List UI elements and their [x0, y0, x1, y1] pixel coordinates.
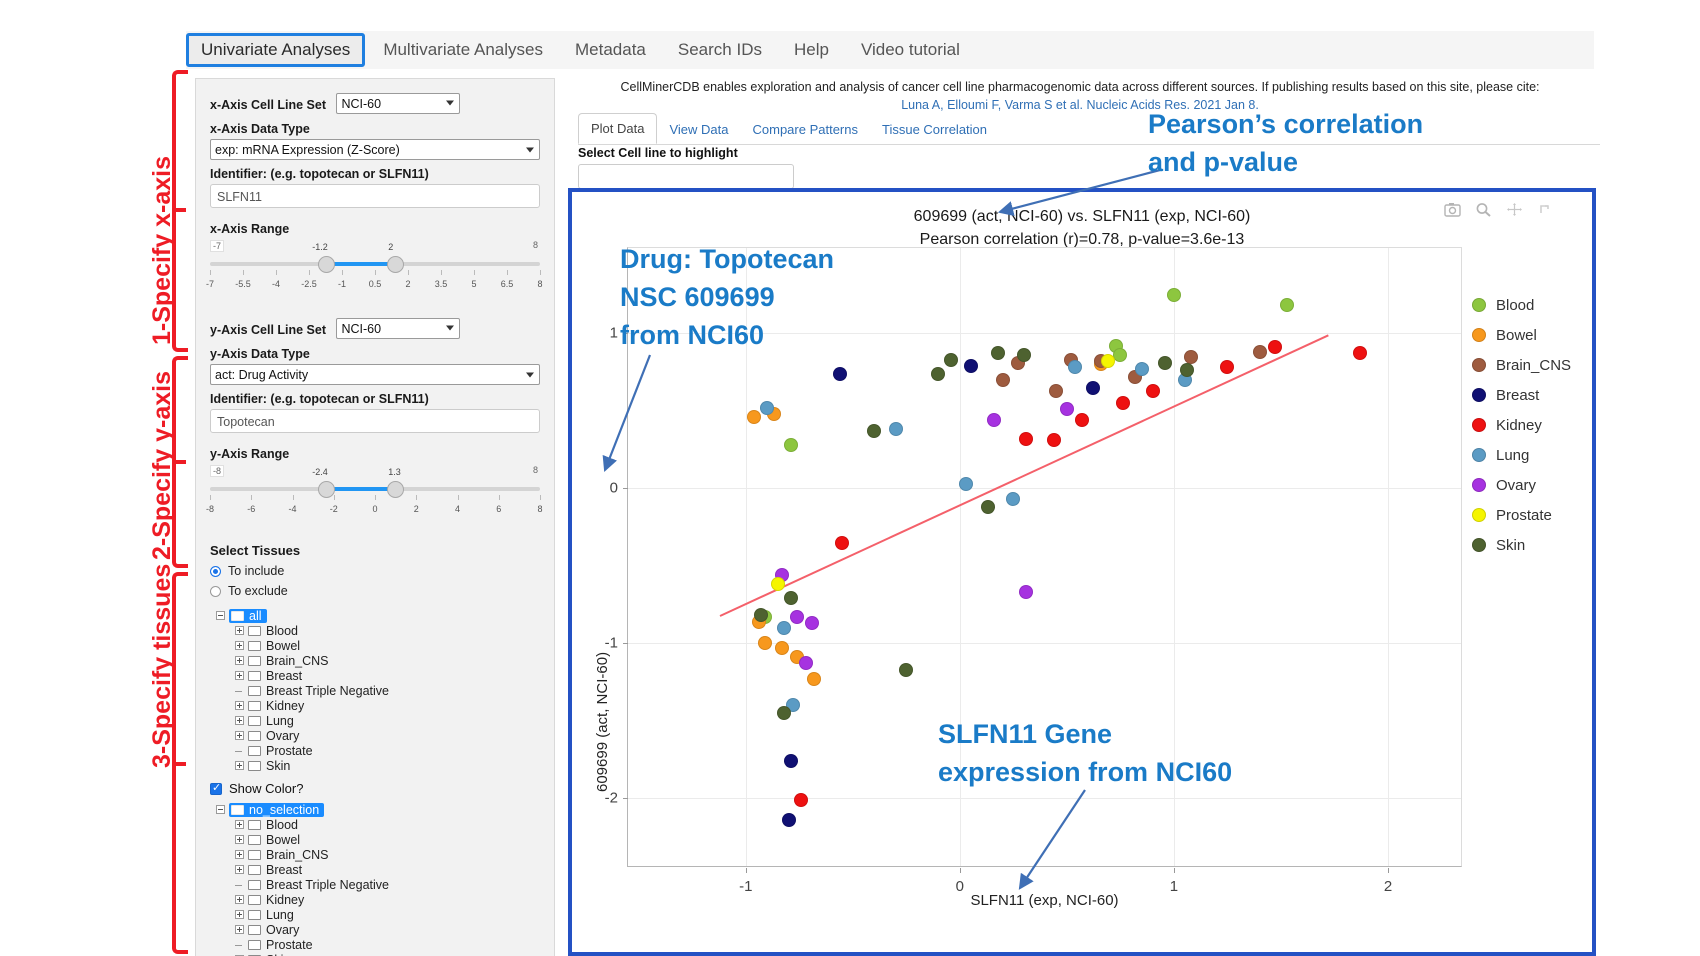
y-identifier-input[interactable]: Topotecan: [210, 409, 540, 433]
folder-icon: [248, 910, 261, 920]
scatter-point[interactable]: [747, 410, 761, 424]
scatter-point[interactable]: [981, 500, 995, 514]
legend-item-bowel[interactable]: Bowel: [1472, 320, 1571, 350]
scatter-point[interactable]: [1167, 288, 1181, 302]
slider-tick-mark: [293, 495, 294, 500]
x-datatype-select[interactable]: exp: mRNA Expression (Z-Score): [210, 139, 540, 160]
tree-item-bowel[interactable]: Bowel: [216, 832, 540, 847]
folder-icon: [248, 731, 261, 741]
x-datatype-label: x-Axis Data Type: [210, 122, 540, 136]
tree-item-kidney[interactable]: Kidney: [216, 698, 540, 713]
x-cellline-label: x-Axis Cell Line Set: [210, 98, 326, 112]
tree-item-label: Kidney: [266, 893, 304, 907]
y-range-low-value: -2.4: [312, 467, 328, 477]
slider-tick-label: -4: [288, 504, 296, 514]
plot-title: 609699 (act, NCI-60) vs. SLFN11 (exp, NC…: [572, 208, 1592, 226]
camera-icon[interactable]: [1444, 202, 1461, 217]
y-datatype-label: y-Axis Data Type: [210, 347, 540, 361]
slider-tick-label: 2: [405, 279, 410, 289]
scatter-point[interactable]: [1253, 345, 1267, 359]
drug-annotation-line-3: from NCI60: [620, 316, 834, 354]
legend-item-lung[interactable]: Lung: [1472, 440, 1571, 470]
slider-tick-mark: [251, 495, 252, 500]
expand-icon[interactable]: [235, 716, 244, 725]
cite-text: CellMinerCDB enables exploration and ana…: [560, 80, 1600, 94]
pearson-annotation-line-1: Pearson’s correlation: [1148, 105, 1423, 143]
chevron-down-icon: [446, 326, 454, 331]
tree-root-row[interactable]: all: [216, 608, 540, 623]
scatter-point[interactable]: [1220, 360, 1234, 374]
slider-tick-mark: [507, 270, 508, 275]
legend-item-prostate[interactable]: Prostate: [1472, 500, 1571, 530]
subtab-divider: [578, 144, 1600, 145]
scatter-point[interactable]: [1068, 360, 1082, 374]
tree-item-label: Lung: [266, 714, 294, 728]
show-color-checkbox[interactable]: Show Color?: [210, 781, 540, 796]
nav-tab-search-ids[interactable]: Search IDs: [664, 34, 776, 66]
select-tissues-label: Select Tissues: [210, 543, 540, 558]
legend-label: Breast: [1496, 387, 1539, 404]
legend-label: Skin: [1496, 537, 1525, 554]
scatter-point[interactable]: [944, 353, 958, 367]
chevron-down-icon: [526, 372, 534, 377]
folder-icon: [248, 701, 261, 711]
scatter-point[interactable]: [1180, 363, 1194, 377]
legend-color-swatch: [1472, 358, 1486, 372]
scatter-point[interactable]: [1280, 298, 1294, 312]
tree-item-prostate[interactable]: Prostate: [216, 743, 540, 758]
slider-tick-label: -2: [330, 504, 338, 514]
scatter-point[interactable]: [1047, 433, 1061, 447]
scatter-point[interactable]: [1146, 384, 1160, 398]
folder-icon: [248, 626, 261, 636]
slider-tick-label: 5: [471, 279, 476, 289]
expand-icon[interactable]: [235, 641, 244, 650]
y-tick-mark: [623, 643, 628, 644]
tree-item-breast-triple-negative[interactable]: Breast Triple Negative: [216, 877, 540, 892]
pan-icon[interactable]: [1506, 202, 1523, 217]
slider-tick-label: 8: [537, 279, 542, 289]
legend-label: Blood: [1496, 297, 1534, 314]
drug-annotation-line-2: NSC 609699: [620, 278, 834, 316]
x-tick-mark: [1174, 868, 1175, 873]
scatter-point[interactable]: [1075, 413, 1089, 427]
tree-root-row[interactable]: no_selection: [216, 802, 540, 817]
show-color-label: Show Color?: [229, 781, 303, 796]
tree-item-label: Prostate: [266, 744, 313, 758]
slider-tick-label: -7: [206, 279, 214, 289]
legend-item-kidney[interactable]: Kidney: [1472, 410, 1571, 440]
x-axis-title: SLFN11 (exp, NCI-60): [627, 892, 1462, 909]
scatter-point[interactable]: [867, 424, 881, 438]
drug-annotation-line-1: Drug: Topotecan: [620, 240, 834, 278]
expand-icon[interactable]: [235, 850, 244, 859]
expand-icon[interactable]: [235, 626, 244, 635]
slider-tick-label: -6: [247, 504, 255, 514]
folder-icon: [248, 746, 261, 756]
tree-item-blood[interactable]: Blood: [216, 817, 540, 832]
folder-icon: [248, 671, 261, 681]
slider-tick-mark: [334, 495, 335, 500]
y-datatype-value: act: Drug Activity: [215, 368, 308, 382]
expand-icon[interactable]: [235, 731, 244, 740]
expand-icon[interactable]: [235, 656, 244, 665]
x-identifier-label: Identifier: (e.g. topotecan or SLFN11): [210, 167, 540, 181]
expand-icon[interactable]: [235, 835, 244, 844]
x-range-high-value: 2: [388, 242, 393, 252]
slider-tick-label: 0: [372, 504, 377, 514]
scatter-point[interactable]: [1158, 356, 1172, 370]
zoom-icon[interactable]: [1475, 202, 1492, 217]
subtab-compare-patterns[interactable]: Compare Patterns: [741, 115, 871, 144]
scatter-point[interactable]: [782, 813, 796, 827]
scatter-point[interactable]: [835, 536, 849, 550]
legend-color-swatch: [1472, 508, 1486, 522]
y-range-label: y-Axis Range: [210, 447, 540, 461]
scatter-point[interactable]: [754, 608, 768, 622]
folder-icon: [248, 835, 261, 845]
nav-tab-multivariate-analyses[interactable]: Multivariate Analyses: [369, 34, 557, 66]
subtab-tissue-correlation[interactable]: Tissue Correlation: [870, 115, 999, 144]
radio-to-exclude[interactable]: To exclude: [210, 584, 540, 598]
legend-color-swatch: [1472, 538, 1486, 552]
y-range-slider[interactable]: -8 8 -2.4 1.3 -8-6-4-202468: [210, 465, 540, 519]
collapse-icon[interactable]: [216, 611, 225, 620]
scatter-point[interactable]: [959, 477, 973, 491]
tree-item-label: Blood: [266, 624, 298, 638]
scatter-point[interactable]: [777, 621, 791, 635]
x-cellline-select[interactable]: NCI-60: [336, 93, 460, 114]
radio-to-include[interactable]: To include: [210, 564, 540, 578]
drug-annotation: Drug: Topotecan NSC 609699 from NCI60: [620, 240, 834, 354]
scatter-point[interactable]: [833, 367, 847, 381]
x-range-label: x-Axis Range: [210, 222, 540, 236]
y-tick-mark: [623, 488, 628, 489]
folder-icon: [248, 880, 261, 890]
legend-item-blood[interactable]: Blood: [1472, 290, 1571, 320]
radio-exclude-label: To exclude: [228, 584, 288, 598]
chevron-down-icon: [526, 147, 534, 152]
nav-tab-metadata[interactable]: Metadata: [561, 34, 660, 66]
legend-color-swatch: [1472, 478, 1486, 492]
legend-color-swatch: [1472, 298, 1486, 312]
tissue-tree-noselection[interactable]: no_selectionBloodBowelBrain_CNSBreastBre…: [216, 802, 540, 956]
slider-tick-mark: [458, 495, 459, 500]
tree-item-lung[interactable]: Lung: [216, 907, 540, 922]
y-range-min: -8: [210, 465, 224, 477]
x-tick-mark: [1388, 868, 1389, 873]
scatter-point[interactable]: [777, 706, 791, 720]
folder-icon: [248, 940, 261, 950]
slider-tick-mark: [375, 270, 376, 275]
collapse-icon[interactable]: [216, 805, 225, 814]
scatter-point[interactable]: [1049, 384, 1063, 398]
scatter-point[interactable]: [784, 438, 798, 452]
tree-item-label: Lung: [266, 908, 294, 922]
slider-tick-label: -2.5: [301, 279, 317, 289]
highlight-input[interactable]: [578, 164, 794, 189]
slider-tick-label: -8: [206, 504, 214, 514]
tree-item-brain_cns[interactable]: Brain_CNS: [216, 847, 540, 862]
folder-icon: [248, 865, 261, 875]
tree-item-label: Breast Triple Negative: [266, 684, 389, 698]
scatter-point[interactable]: [899, 663, 913, 677]
slider-tick-mark: [276, 270, 277, 275]
tree-root-chip[interactable]: all: [229, 609, 267, 623]
scatter-point[interactable]: [807, 672, 821, 686]
slider-tick-label: 8: [537, 504, 542, 514]
gene-annotation-line-2: expression from NCI60: [938, 753, 1232, 791]
legend-item-ovary[interactable]: Ovary: [1472, 470, 1571, 500]
y-tick-label: -2: [590, 790, 618, 807]
slider-tick-mark: [499, 495, 500, 500]
autoscale-icon[interactable]: [1537, 202, 1554, 217]
x-tick-mark: [746, 868, 747, 873]
slider-tick-label: 0.5: [369, 279, 382, 289]
x-datatype-value: exp: mRNA Expression (Z-Score): [215, 143, 400, 157]
scatter-point[interactable]: [991, 346, 1005, 360]
scatter-point[interactable]: [1113, 348, 1127, 362]
scatter-point[interactable]: [760, 401, 774, 415]
tree-item-lung[interactable]: Lung: [216, 713, 540, 728]
x-range-slider[interactable]: -7 8 -1.2 2 -7-5.5-4-2.5-10.523.556.58: [210, 240, 540, 294]
legend-label: Ovary: [1496, 477, 1536, 494]
tree-item-bowel[interactable]: Bowel: [216, 638, 540, 653]
scatter-point[interactable]: [758, 636, 772, 650]
y-cellline-value: NCI-60: [341, 322, 381, 336]
legend-item-breast[interactable]: Breast: [1472, 380, 1571, 410]
scatter-point[interactable]: [889, 422, 903, 436]
expand-icon[interactable]: [235, 761, 244, 770]
pearson-annotation-line-2: and p-value: [1148, 143, 1423, 181]
tree-item-label: Skin: [266, 953, 290, 956]
tree-item-skin[interactable]: Skin: [216, 952, 540, 956]
scatter-point[interactable]: [784, 591, 798, 605]
x-slider-fill: [326, 262, 395, 266]
tree-item-ovary[interactable]: Ovary: [216, 922, 540, 937]
tree-item-breast-triple-negative[interactable]: Breast Triple Negative: [216, 683, 540, 698]
slider-tick-label: 2: [414, 504, 419, 514]
cite-link[interactable]: Luna A, Elloumi F, Varma S et al. Nuclei…: [560, 98, 1600, 112]
main-navbar: Univariate AnalysesMultivariate Analyses…: [186, 31, 1594, 69]
chevron-down-icon: [446, 101, 454, 106]
checkbox-icon: [210, 783, 222, 795]
legend-item-brain_cns[interactable]: Brain_CNS: [1472, 350, 1571, 380]
tree-item-label: Brain_CNS: [266, 654, 329, 668]
regression-line: [720, 335, 1329, 617]
subtab-view-data[interactable]: View Data: [657, 115, 740, 144]
scatter-point[interactable]: [1086, 381, 1100, 395]
y-axis-title: 609699 (act, NCI-60): [594, 652, 611, 792]
expand-icon[interactable]: [235, 701, 244, 710]
tree-item-ovary[interactable]: Ovary: [216, 728, 540, 743]
y-cellline-select[interactable]: NCI-60: [336, 318, 460, 339]
expand-icon[interactable]: [235, 865, 244, 874]
gene-annotation-line-1: SLFN11 Gene: [938, 715, 1232, 753]
scatter-point[interactable]: [1101, 354, 1115, 368]
scatter-point[interactable]: [1019, 585, 1033, 599]
scatter-point[interactable]: [805, 616, 819, 630]
slider-tick-label: -5.5: [235, 279, 251, 289]
slider-tick-mark: [342, 270, 343, 275]
folder-icon: [248, 686, 261, 696]
plot-modebar: [1444, 202, 1554, 217]
y-range-max: 8: [531, 465, 540, 475]
tree-item-label: Skin: [266, 759, 290, 773]
step-label-2: 2-Specify y-axis: [148, 371, 177, 560]
y-cellline-label: y-Axis Cell Line Set: [210, 323, 326, 337]
folder-icon: [248, 850, 261, 860]
nav-tab-help[interactable]: Help: [780, 34, 843, 66]
scatter-point[interactable]: [771, 577, 785, 591]
slider-tick-mark: [441, 270, 442, 275]
slider-tick-mark: [540, 270, 541, 275]
scatter-point[interactable]: [987, 413, 1001, 427]
tree-item-brain_cns[interactable]: Brain_CNS: [216, 653, 540, 668]
radio-include-icon: [210, 566, 221, 577]
folder-icon: [248, 656, 261, 666]
tree-item-skin[interactable]: Skin: [216, 758, 540, 773]
folder-icon: [248, 895, 261, 905]
legend-label: Prostate: [1496, 507, 1552, 524]
scatter-point[interactable]: [1184, 350, 1198, 364]
tree-item-label: Prostate: [266, 938, 313, 952]
scatter-point[interactable]: [964, 359, 978, 373]
y-slider-ticks: -8-6-4-202468: [210, 495, 540, 517]
expand-icon[interactable]: [235, 925, 244, 934]
y-identifier-label: Identifier: (e.g. topotecan or SLFN11): [210, 392, 540, 406]
x-range-low-value: -1.2: [312, 242, 328, 252]
tree-item-label: Bowel: [266, 639, 300, 653]
y-gridline: [628, 643, 1461, 644]
x-cellline-row: x-Axis Cell Line Set NCI-60: [210, 91, 540, 115]
legend-color-swatch: [1472, 418, 1486, 432]
x-identifier-input[interactable]: SLFN11: [210, 184, 540, 208]
scatter-point[interactable]: [1135, 362, 1149, 376]
scatter-point[interactable]: [1116, 396, 1130, 410]
radio-exclude-icon: [210, 586, 221, 597]
tree-item-breast[interactable]: Breast: [216, 862, 540, 877]
step-label-3: 3-Specify tissues: [148, 564, 177, 768]
tree-item-label: Ovary: [266, 729, 299, 743]
tissue-tree-include[interactable]: allBloodBowelBrain_CNSBreastBreast Tripl…: [216, 608, 540, 773]
slider-tick-label: -1: [338, 279, 346, 289]
folder-icon: [231, 611, 244, 621]
tree-item-blood[interactable]: Blood: [216, 623, 540, 638]
slider-tick-label: 6: [496, 504, 501, 514]
gene-annotation: SLFN11 Gene expression from NCI60: [938, 715, 1232, 791]
x-gridline: [1388, 248, 1389, 866]
legend-label: Bowel: [1496, 327, 1537, 344]
y-tick-label: 1: [590, 325, 618, 342]
y-tick-mark: [623, 798, 628, 799]
tree-item-label: Brain_CNS: [266, 848, 329, 862]
folder-icon: [248, 761, 261, 771]
y-cellline-row: y-Axis Cell Line Set NCI-60: [210, 316, 540, 340]
slider-tick-mark: [416, 495, 417, 500]
scatter-point[interactable]: [1353, 346, 1367, 360]
scatter-point[interactable]: [931, 367, 945, 381]
tree-item-label: Breast: [266, 669, 302, 683]
legend-label: Lung: [1496, 447, 1529, 464]
x-tick-mark: [960, 868, 961, 873]
scatter-point[interactable]: [794, 793, 808, 807]
slider-tick-mark: [243, 270, 244, 275]
folder-icon: [248, 820, 261, 830]
slider-tick-label: 3.5: [435, 279, 448, 289]
tree-item-label: Breast: [266, 863, 302, 877]
radio-include-label: To include: [228, 564, 284, 578]
x-range-min: -7: [210, 240, 224, 252]
slider-tick-mark: [540, 495, 541, 500]
highlight-label: Select Cell line to highlight: [578, 146, 738, 160]
pearson-annotation: Pearson’s correlation and p-value: [1148, 105, 1423, 181]
expand-icon[interactable]: [235, 910, 244, 919]
y-gridline: [628, 798, 1461, 799]
scatter-point[interactable]: [784, 754, 798, 768]
nav-tab-univariate-analyses[interactable]: Univariate Analyses: [186, 33, 365, 67]
tree-root-chip[interactable]: no_selection: [229, 803, 324, 817]
tree-item-label: Blood: [266, 818, 298, 832]
tree-item-kidney[interactable]: Kidney: [216, 892, 540, 907]
tree-item-label: Bowel: [266, 833, 300, 847]
slider-tick-mark: [375, 495, 376, 500]
expand-icon[interactable]: [235, 671, 244, 680]
expand-icon[interactable]: [235, 895, 244, 904]
scatter-point[interactable]: [1017, 348, 1031, 362]
y-datatype-select[interactable]: act: Drug Activity: [210, 364, 540, 385]
legend-color-swatch: [1472, 388, 1486, 402]
tree-root-label: no_selection: [249, 803, 319, 817]
nav-tab-video-tutorial[interactable]: Video tutorial: [847, 34, 974, 66]
tree-item-label: Ovary: [266, 923, 299, 937]
tree-item-breast[interactable]: Breast: [216, 668, 540, 683]
legend-color-swatch: [1472, 448, 1486, 462]
scatter-point[interactable]: [1019, 432, 1033, 446]
subtab-plot-data[interactable]: Plot Data: [578, 113, 657, 144]
scatter-point[interactable]: [1268, 340, 1282, 354]
plot-subtabs: Plot DataView DataCompare PatternsTissue…: [578, 113, 999, 144]
scatter-point[interactable]: [1060, 402, 1074, 416]
slider-tick-mark: [474, 270, 475, 275]
x-cellline-value: NCI-60: [341, 97, 381, 111]
scatter-point[interactable]: [775, 641, 789, 655]
tree-root-label: all: [249, 609, 262, 623]
y-tick-label: -1: [590, 635, 618, 652]
legend-label: Kidney: [1496, 417, 1542, 434]
slider-tick-label: 4: [455, 504, 460, 514]
slider-tick-label: 6.5: [501, 279, 514, 289]
scatter-point[interactable]: [790, 610, 804, 624]
scatter-point[interactable]: [1006, 492, 1020, 506]
y-gridline: [628, 488, 1461, 489]
tree-item-label: Breast Triple Negative: [266, 878, 389, 892]
slider-tick-label: -4: [272, 279, 280, 289]
expand-icon[interactable]: [235, 820, 244, 829]
folder-icon: [248, 925, 261, 935]
y-range-high-value: 1.3: [388, 467, 401, 477]
tree-item-label: Kidney: [266, 699, 304, 713]
tree-item-prostate[interactable]: Prostate: [216, 937, 540, 952]
legend-item-skin[interactable]: Skin: [1472, 530, 1571, 560]
scatter-point[interactable]: [799, 656, 813, 670]
folder-icon: [248, 716, 261, 726]
legend-color-swatch: [1472, 328, 1486, 342]
folder-icon: [248, 641, 261, 651]
plot-legend: BloodBowelBrain_CNSBreastKidneyLungOvary…: [1472, 290, 1571, 560]
slider-tick-mark: [210, 270, 211, 275]
scatter-point[interactable]: [996, 373, 1010, 387]
